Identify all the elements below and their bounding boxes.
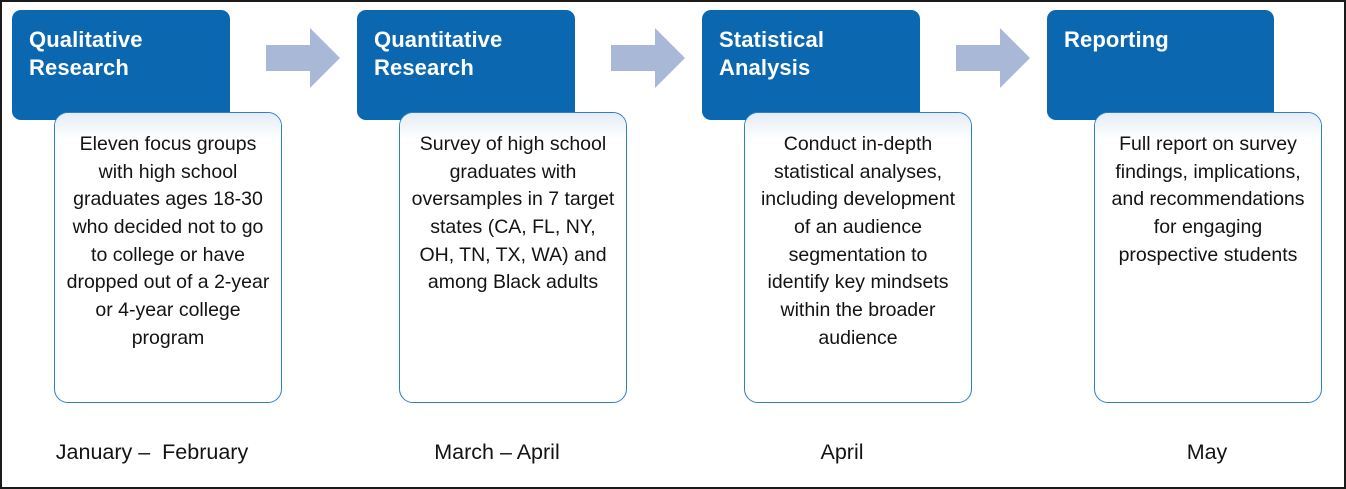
stage-description-text: Survey of high school graduates with ove… [400,113,626,297]
stage-description-text: Conduct in-depth statistical analyses, i… [745,113,971,353]
stage-header-label: Reporting [1064,26,1264,54]
stage-description-text: Full report on survey findings, implicat… [1095,113,1321,269]
stage-reporting: Reporting Full report on survey findings… [1037,2,1346,489]
stage-description-card[interactable]: Eleven focus groups with high school gra… [54,112,282,403]
stage-header-box[interactable]: Statistical Analysis [702,10,920,120]
stage-header-box[interactable]: Reporting [1047,10,1274,120]
stage-date-label: January – February [12,440,292,465]
process-flow-diagram: Qualitative Research Eleven focus groups… [0,0,1346,489]
stage-header-label: Qualitative Research [29,26,220,82]
stage-header-box[interactable]: Quantitative Research [357,10,575,120]
stage-date-label: April [702,440,982,465]
stage-description-card[interactable]: Survey of high school graduates with ove… [399,112,627,403]
stage-header-box[interactable]: Qualitative Research [12,10,230,120]
stage-description-card[interactable]: Conduct in-depth statistical analyses, i… [744,112,972,403]
stage-description-text: Eleven focus groups with high school gra… [55,113,281,353]
right-arrow-icon [611,28,685,88]
right-arrow-icon [956,28,1030,88]
stage-date-label: May [1067,440,1346,465]
stage-header-label: Quantitative Research [374,26,565,82]
stage-description-card[interactable]: Full report on survey findings, implicat… [1094,112,1322,403]
right-arrow-icon [266,28,340,88]
stage-header-label: Statistical Analysis [719,26,910,82]
stage-date-label: March – April [357,440,637,465]
